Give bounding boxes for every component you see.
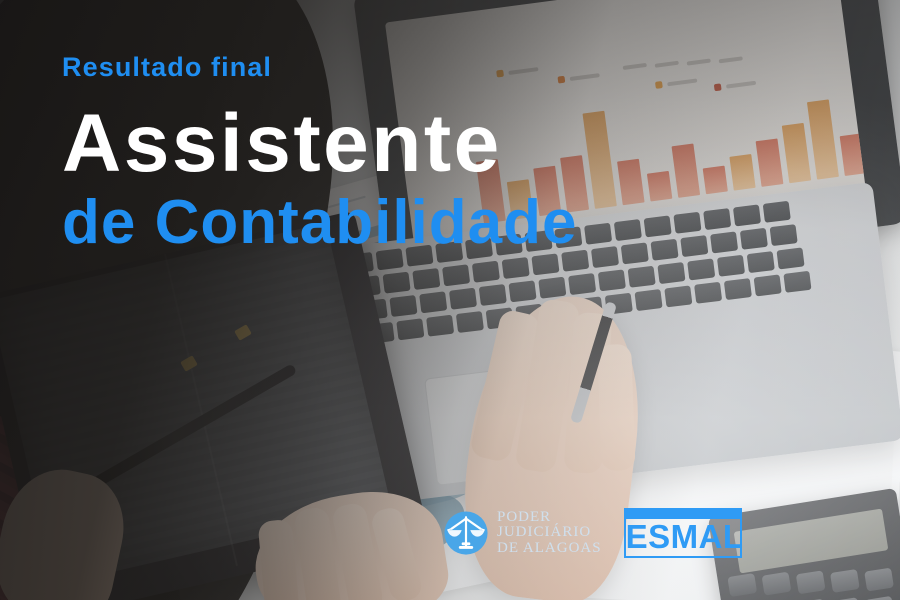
logo-poder-judiciario-alagoas: Poder Judiciário de Alagoas [443, 510, 602, 556]
result-announcement-banner: MONTHLY BUDGET [0, 0, 900, 600]
page-subtitle: de Contabilidade [62, 192, 577, 254]
logo-group: Poder Judiciário de Alagoas ESMAL [443, 508, 742, 558]
esmal-wordmark: ESMAL [626, 519, 740, 556]
scales-of-justice-icon [443, 510, 489, 556]
banner-content: Resultado final Assistente de Contabilid… [0, 0, 900, 600]
logo-tjal-line-3: de Alagoas [497, 541, 602, 556]
logo-tjal-wordmark: Poder Judiciário de Alagoas [497, 510, 602, 556]
page-title: Assistente [62, 104, 502, 184]
logo-tjal-line-2: Judiciário [497, 525, 602, 540]
kicker-label: Resultado final [62, 52, 272, 83]
logo-esmal: ESMAL [624, 508, 742, 558]
